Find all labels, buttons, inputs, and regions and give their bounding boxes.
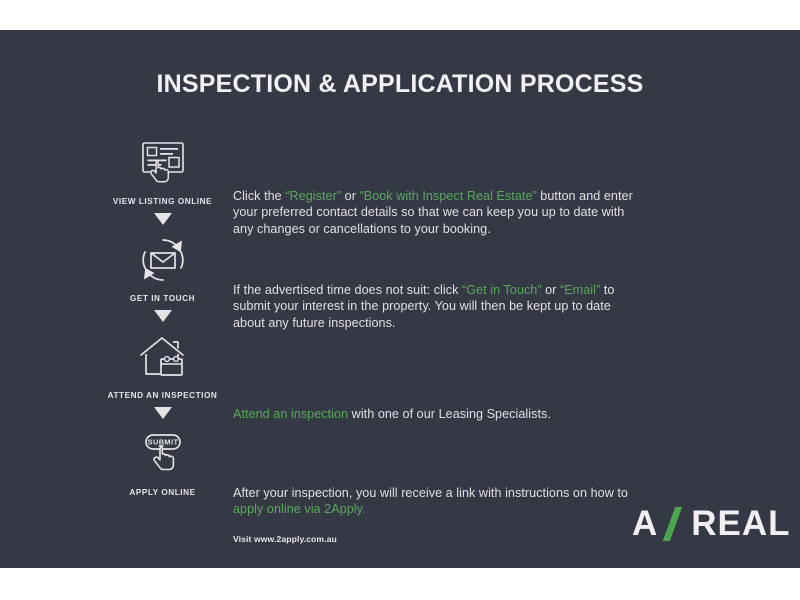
step-label: APPLY ONLINE	[70, 488, 255, 497]
logo-text-right: REAL	[691, 504, 790, 544]
step-apply-online: SUBMIT APPLY ONLINE	[70, 426, 255, 497]
slide-panel: INSPECTION & APPLICATION PROCESS	[0, 30, 800, 568]
highlight-attend-an-inspection: Attend an inspection	[233, 407, 348, 421]
step-attend-an-inspection: ATTEND AN INSPECTION	[70, 329, 255, 400]
step-label: ATTEND AN INSPECTION	[70, 391, 255, 400]
flow-arrow-down-icon	[70, 303, 255, 329]
highlight-get-in-touch: “Get in Touch”	[462, 283, 542, 297]
step-label: VIEW LISTING ONLINE	[70, 197, 255, 206]
slide-root: INSPECTION & APPLICATION PROCESS	[0, 0, 800, 600]
text-segment: After your inspection, you will receive …	[233, 486, 628, 500]
description-attend-an-inspection: Attend an inspection with one of our Lea…	[233, 406, 633, 422]
text-segment: or	[341, 189, 359, 203]
highlight-register: “Register”	[285, 189, 341, 203]
highlight-apply-online-via-2apply: apply online via 2Apply.	[233, 502, 366, 516]
flow-arrow-down-icon	[70, 400, 255, 426]
highlight-email: “Email”	[560, 283, 600, 297]
text-segment: or	[542, 283, 560, 297]
description-view-listing-online: Click the “Register” or “Book with Inspe…	[233, 188, 633, 237]
flow-arrow-down-icon	[70, 206, 255, 232]
process-steps: VIEW LISTING ONLINE	[70, 135, 255, 497]
submit-button-click-icon: SUBMIT	[70, 426, 255, 482]
brand-logo: A REAL	[632, 504, 791, 544]
envelope-refresh-icon	[70, 232, 255, 288]
step-view-listing-online: VIEW LISTING ONLINE	[70, 135, 255, 206]
visit-url-note: Visit www.2apply.com.au	[233, 531, 633, 547]
highlight-book-with-inspect-real-estate: “Book with Inspect Real Estate”	[360, 189, 537, 203]
description-apply-online: After your inspection, you will receive …	[233, 485, 633, 547]
listing-page-click-icon	[70, 135, 255, 191]
step-label: GET IN TOUCH	[70, 294, 255, 303]
step-get-in-touch: GET IN TOUCH	[70, 232, 255, 303]
description-get-in-touch: If the advertised time does not suit: cl…	[233, 282, 633, 331]
house-calendar-icon	[70, 329, 255, 385]
text-segment: Click the	[233, 189, 285, 203]
page-title: INSPECTION & APPLICATION PROCESS	[0, 70, 800, 99]
text-segment: If the advertised time does not suit: cl…	[233, 283, 462, 297]
logo-slash-icon	[664, 507, 684, 541]
text-segment: with one of our Leasing Specialists.	[348, 407, 551, 421]
logo-text-left: A	[632, 504, 658, 544]
